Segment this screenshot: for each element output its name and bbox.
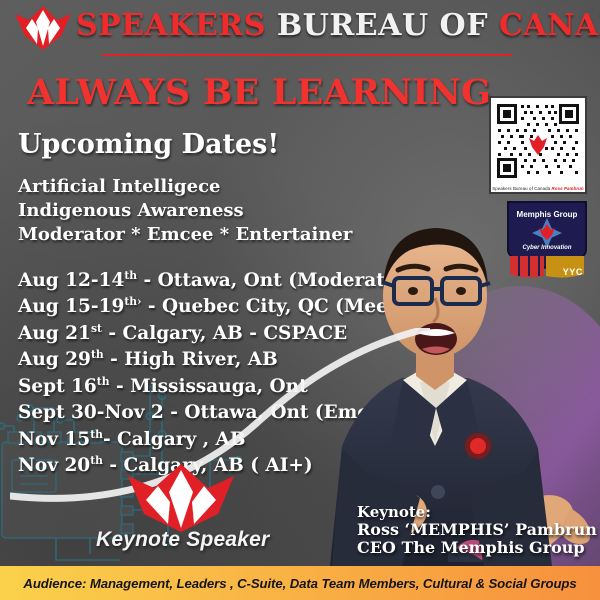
date-ordinal: st — [91, 322, 102, 335]
badge-bottom-label: Cyber Innovation — [505, 245, 589, 251]
qr-caption-main: Speakers Bureau of Canada — [492, 186, 550, 191]
credit-line-1: Keynote: — [357, 504, 597, 521]
date-ordinal: th — [97, 375, 110, 388]
date-location: - High River, AB — [104, 349, 278, 370]
page-title: SPEAKERS BUREAU OF CANADA — [76, 8, 576, 48]
keynote-speaker-logo: Keynote Speaker — [96, 462, 266, 554]
maple-leaf-logo-icon — [13, 6, 73, 50]
header-divider — [102, 54, 512, 56]
date-value: Sept 30-Nov 2 — [18, 402, 164, 423]
headline: ALWAYS BE LEARNING — [27, 72, 491, 113]
title-part-speakers: SPEAKERS — [76, 8, 266, 43]
date-ordinal: th — [124, 269, 137, 282]
credit-line-3: CEO The Memphis Group — [357, 539, 597, 558]
badge-airport-code: YYC — [563, 267, 583, 277]
title-part-bureau-of: BUREAU OF — [277, 8, 488, 43]
qr-caption: Speakers Bureau of Canada Ross Pambrun — [491, 186, 585, 191]
qr-code[interactable]: Speakers Bureau of Canada Ross Pambrun — [489, 96, 587, 194]
date-ordinal: th› — [124, 295, 141, 308]
badge-top-label: Memphis Group — [505, 210, 589, 219]
keynote-credit: Keynote: Ross ‘MEMPHIS’ Pambrun CEO The … — [357, 504, 597, 558]
date-value: Nov 15 — [18, 429, 90, 450]
date-value: Aug 21 — [18, 323, 91, 344]
memphis-group-badge[interactable]: Memphis Group Cyber Innovation YYC — [505, 200, 589, 282]
audience-banner-text: Audience: Management, Leaders , C-Suite,… — [23, 576, 576, 591]
keynote-speaker-label: Keynote Speaker — [96, 528, 266, 552]
subheading: Upcoming Dates! — [18, 129, 279, 160]
qr-caption-name: Ross Pambrun — [552, 186, 584, 191]
date-value: Aug 12-14 — [18, 270, 124, 291]
date-value: Sept 16 — [18, 376, 97, 397]
date-ordinal: th — [91, 348, 104, 361]
maple-leaf-icon — [528, 135, 548, 155]
date-ordinal: th — [90, 428, 103, 441]
maple-leaf-logo-icon — [96, 462, 266, 532]
poster-canvas: SPEAKERS BUREAU OF CANADA ALWAYS BE LEAR… — [0, 0, 600, 600]
date-value: Aug 15-19 — [18, 297, 124, 318]
credit-line-2: Ross ‘MEMPHIS’ Pambrun — [357, 521, 597, 540]
date-location: - Calgary , AB — [103, 429, 246, 450]
date-value: Nov 20 — [18, 455, 90, 476]
poster-header: SPEAKERS BUREAU OF CANADA — [0, 0, 600, 62]
date-value: Aug 29 — [18, 349, 91, 370]
title-part-canada: CANADA — [499, 8, 600, 43]
audience-banner: Audience: Management, Leaders , C-Suite,… — [0, 566, 600, 600]
